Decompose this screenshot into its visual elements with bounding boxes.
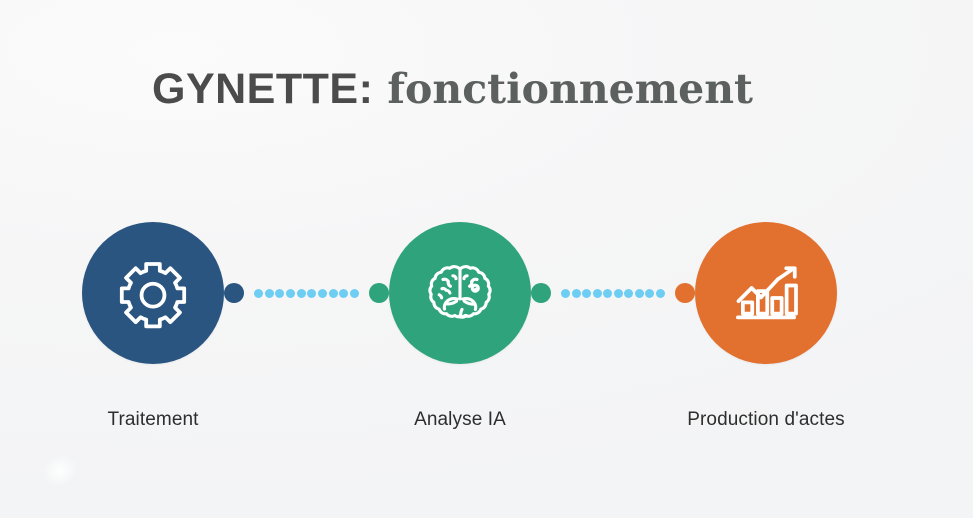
flow-step-production-dactes[interactable] <box>695 222 837 364</box>
flow-step-label-production-dactes: Production d'actes <box>636 409 896 431</box>
flow-step-analyse-ia[interactable] <box>389 222 531 364</box>
gear-icon <box>114 254 192 332</box>
page-title: GYNETTE:fonctionnement <box>152 68 753 111</box>
flow-step-label-analyse-ia: Analyse IA <box>330 409 590 431</box>
connector-2-end-dot <box>675 283 695 303</box>
flow-step-production-dactes-disc[interactable] <box>695 222 837 364</box>
connector-2-start-dot <box>531 283 551 303</box>
flow-step-traitement-disc[interactable] <box>82 222 224 364</box>
connector-1-track <box>244 289 369 298</box>
flow-step-analyse-ia-disc[interactable] <box>389 222 531 364</box>
flow-step-traitement[interactable] <box>82 222 224 364</box>
flow-connector-2 <box>531 222 695 364</box>
flow-step-label-traitement: Traitement <box>23 409 283 431</box>
connector-2-track <box>551 289 675 298</box>
page-title-brand: GYNETTE: <box>152 65 373 113</box>
process-flow <box>0 222 973 364</box>
page-title-subject: fonctionnement <box>387 65 753 113</box>
connector-1-end-dot <box>369 283 389 303</box>
slide-canvas: GYNETTE:fonctionnement <box>0 0 973 518</box>
brain-icon <box>420 253 500 333</box>
flow-connector-1 <box>224 222 389 364</box>
connector-1-start-dot <box>224 283 244 303</box>
light-smudge-artifact <box>37 449 83 492</box>
bar-chart-growth-icon <box>726 253 806 333</box>
